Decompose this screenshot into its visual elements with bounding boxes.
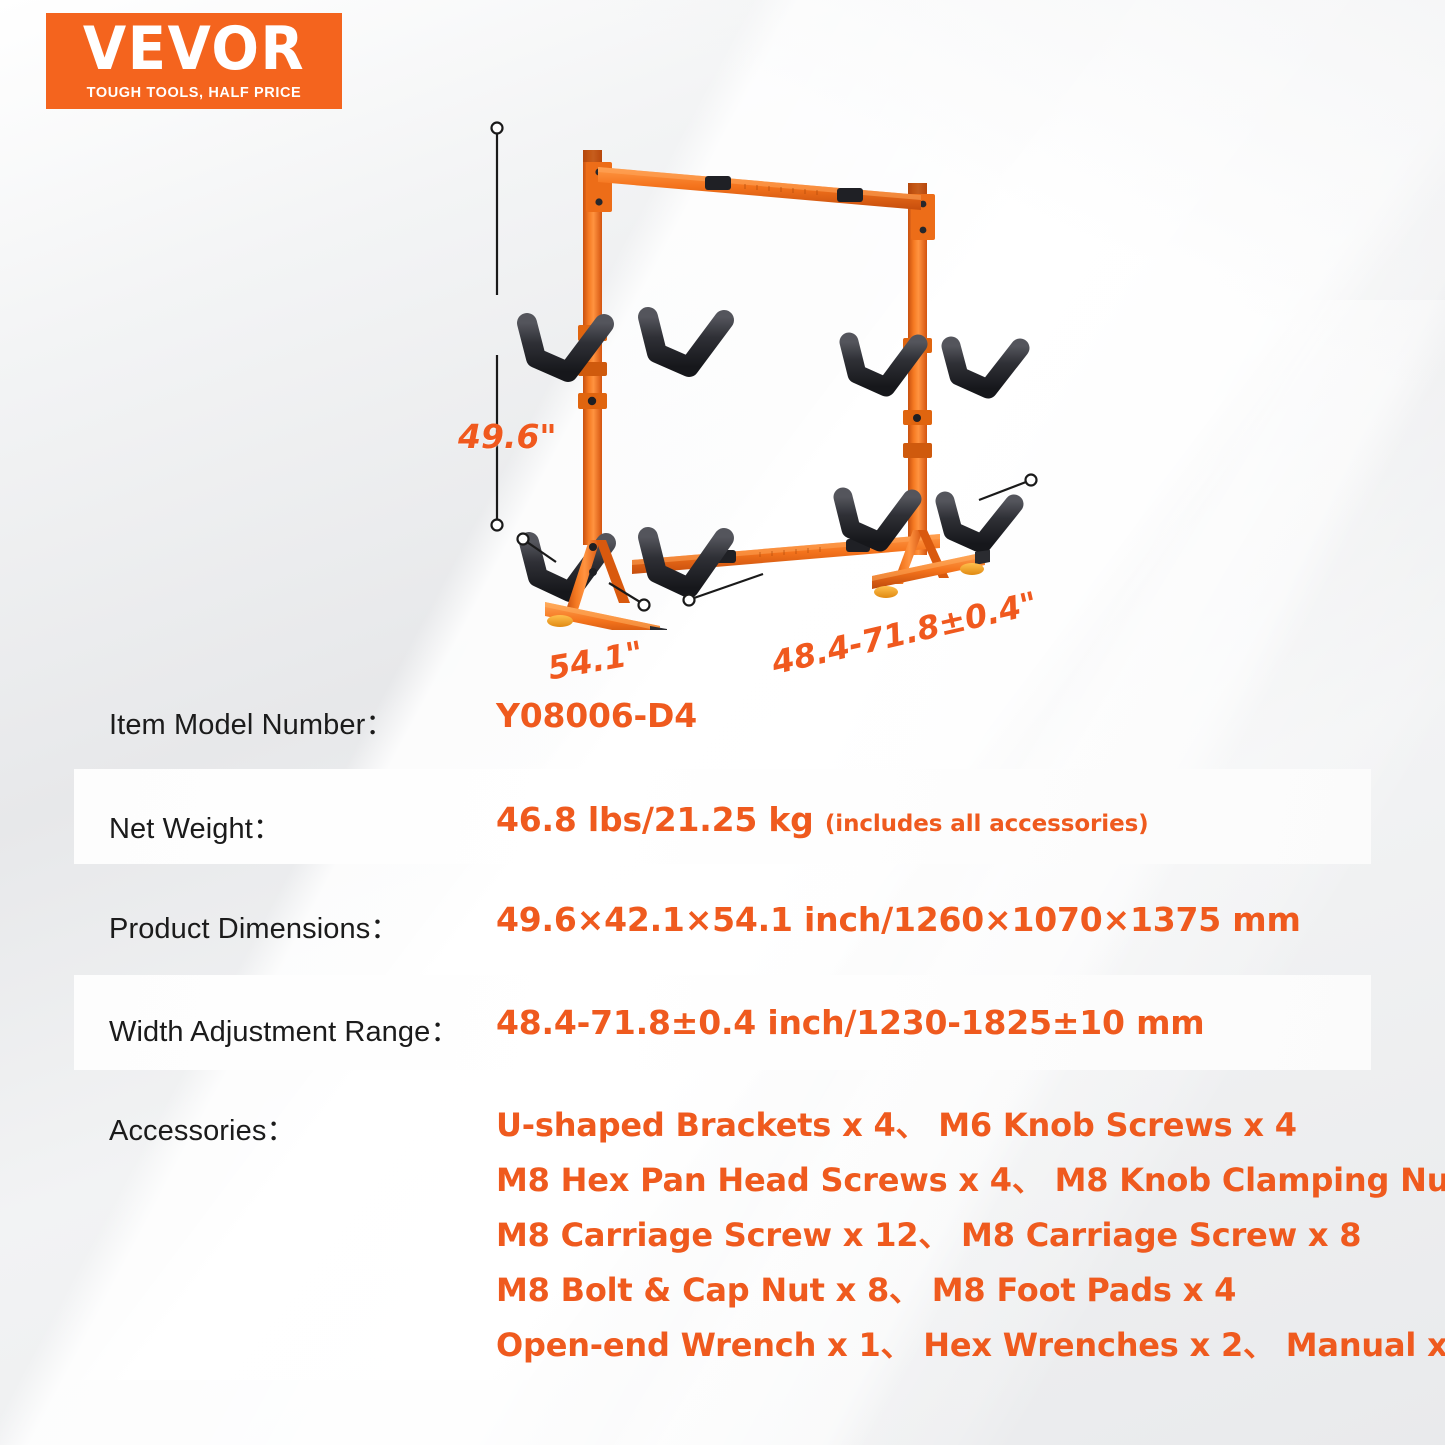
vevor-logo: VEVOR TOUGH TOOLS, HALF PRICE — [46, 13, 342, 109]
rack-bottom-crossbar — [632, 534, 940, 574]
spec-value-width-adjustment-range: 48.4-71.8±0.4 inch/1230-1825±10 mm — [496, 1003, 1204, 1042]
spec-label-width-adjustment-range: Width Adjustment Range： — [109, 1008, 459, 1050]
accessories-line: M8 Hex Pan Head Screws x 4、 M8 Knob Clam… — [496, 1153, 1445, 1208]
spec-value-model-number: Y08006-D4 — [496, 696, 697, 735]
spec-label-net-weight: Net Weight： — [109, 805, 282, 847]
brand-tagline: TOUGH TOOLS, HALF PRICE — [87, 85, 302, 101]
spec-value-net-weight: 46.8 lbs/21.25 kg (includes all accessor… — [496, 800, 1149, 839]
net-weight-note: (includes all accessories) — [825, 811, 1149, 837]
accessories-line: Open-end Wrench x 1、 Hex Wrenches x 2、 M… — [496, 1318, 1445, 1373]
brand-wordmark: VEVOR — [83, 20, 305, 79]
dimension-label-depth: 54.1" — [545, 633, 646, 687]
product-hero-image: 49.6" 54.1" 48.4-71.8±0.4" — [0, 110, 1445, 630]
spec-label-product-dimensions: Product Dimensions： — [109, 905, 399, 947]
accessories-line: M8 Carriage Screw x 12、 M8 Carriage Scre… — [496, 1208, 1445, 1263]
padded-bracket-upper-left — [527, 317, 724, 372]
net-weight-primary: 46.8 lbs/21.25 kg — [496, 800, 814, 839]
padded-bracket-lower-left — [529, 537, 724, 592]
rack-top-crossbar — [598, 167, 921, 210]
spec-value-product-dimensions: 49.6×42.1×54.1 inch/1260×1070×1375 mm — [496, 900, 1301, 939]
spec-label-model-number: Item Model Number： — [109, 701, 394, 743]
dimension-label-height: 49.6" — [458, 417, 557, 456]
spec-label-accessories: Accessories： — [109, 1107, 296, 1149]
padded-bracket-upper-right — [849, 342, 1020, 389]
kayak-rack-illustration — [0, 110, 1445, 630]
accessories-line: U-shaped Brackets x 4、 M6 Knob Screws x … — [496, 1098, 1445, 1153]
product-spec-page: VEVOR TOUGH TOOLS, HALF PRICE — [0, 0, 1445, 1445]
accessories-list: U-shaped Brackets x 4、 M6 Knob Screws x … — [496, 1098, 1445, 1373]
accessories-line: M8 Bolt & Cap Nut x 8、 M8 Foot Pads x 4 — [496, 1263, 1445, 1318]
